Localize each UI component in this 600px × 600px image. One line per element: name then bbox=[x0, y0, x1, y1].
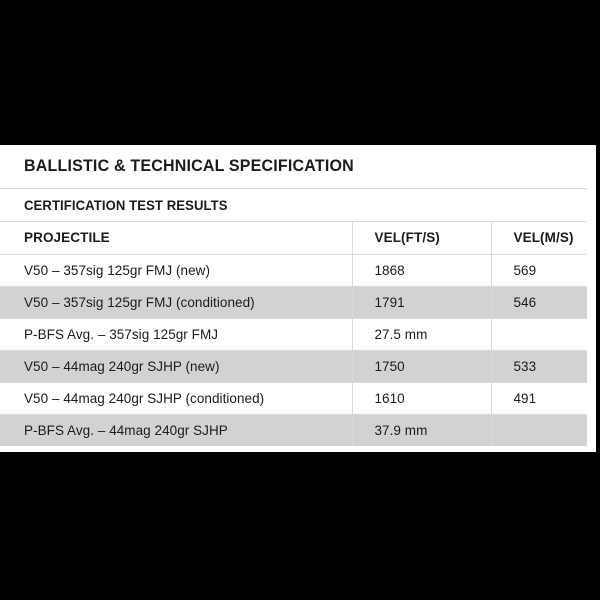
cell-vel-ftps: 37.9 mm bbox=[352, 414, 491, 446]
cell-vel-ftps: 27.5 mm bbox=[352, 318, 491, 350]
cell-vel-ftps: 1791 bbox=[352, 286, 491, 318]
table-row: V50 – 44mag 240gr SJHP (new) 1750 533 bbox=[0, 350, 587, 382]
table-header: PROJECTILE VEL(FT/S) VEL(M/S) bbox=[0, 222, 587, 254]
table-row: V50 – 357sig 125gr FMJ (new) 1868 569 bbox=[0, 254, 587, 286]
cell-vel-ms: 569 bbox=[491, 254, 587, 286]
cell-projectile: V50 – 44mag 240gr SJHP (new) bbox=[0, 350, 352, 382]
cell-vel-ftps: 1868 bbox=[352, 254, 491, 286]
letterbox-top bbox=[0, 0, 600, 145]
spec-title-band: BALLISTIC & TECHNICAL SPECIFICATION bbox=[0, 145, 596, 189]
table-header-row: PROJECTILE VEL(FT/S) VEL(M/S) bbox=[0, 222, 587, 254]
cell-vel-ms bbox=[491, 414, 587, 446]
table-row: V50 – 357sig 125gr FMJ (conditioned) 179… bbox=[0, 286, 587, 318]
table-row: P-BFS Avg. – 357sig 125gr FMJ 27.5 mm bbox=[0, 318, 587, 350]
page-title: BALLISTIC & TECHNICAL SPECIFICATION bbox=[24, 157, 354, 176]
cell-projectile: V50 – 357sig 125gr FMJ (new) bbox=[0, 254, 352, 286]
letterbox-bottom bbox=[0, 452, 600, 600]
card-right-margin bbox=[587, 145, 596, 452]
table-row: V50 – 44mag 240gr SJHP (conditioned) 161… bbox=[0, 382, 587, 414]
cell-vel-ftps: 1750 bbox=[352, 350, 491, 382]
certification-results-table: PROJECTILE VEL(FT/S) VEL(M/S) V50 – 357s… bbox=[0, 222, 587, 446]
ballistic-spec-card: BALLISTIC & TECHNICAL SPECIFICATION CERT… bbox=[0, 145, 596, 452]
table-body: V50 – 357sig 125gr FMJ (new) 1868 569 V5… bbox=[0, 254, 587, 446]
cell-projectile: P-BFS Avg. – 44mag 240gr SJHP bbox=[0, 414, 352, 446]
cell-vel-ms: 491 bbox=[491, 382, 587, 414]
cell-vel-ms: 533 bbox=[491, 350, 587, 382]
cell-projectile: V50 – 44mag 240gr SJHP (conditioned) bbox=[0, 382, 352, 414]
column-header-projectile: PROJECTILE bbox=[0, 222, 352, 254]
screenshot-stage: BALLISTIC & TECHNICAL SPECIFICATION CERT… bbox=[0, 0, 600, 600]
cell-projectile: P-BFS Avg. – 357sig 125gr FMJ bbox=[0, 318, 352, 350]
cell-projectile: V50 – 357sig 125gr FMJ (conditioned) bbox=[0, 286, 352, 318]
column-header-vel-ftps: VEL(FT/S) bbox=[352, 222, 491, 254]
cell-vel-ms bbox=[491, 318, 587, 350]
spec-subtitle-band: CERTIFICATION TEST RESULTS bbox=[0, 189, 596, 222]
cell-vel-ftps: 1610 bbox=[352, 382, 491, 414]
cell-vel-ms: 546 bbox=[491, 286, 587, 318]
section-title: CERTIFICATION TEST RESULTS bbox=[24, 198, 228, 213]
column-header-vel-ms: VEL(M/S) bbox=[491, 222, 587, 254]
table-row: P-BFS Avg. – 44mag 240gr SJHP 37.9 mm bbox=[0, 414, 587, 446]
